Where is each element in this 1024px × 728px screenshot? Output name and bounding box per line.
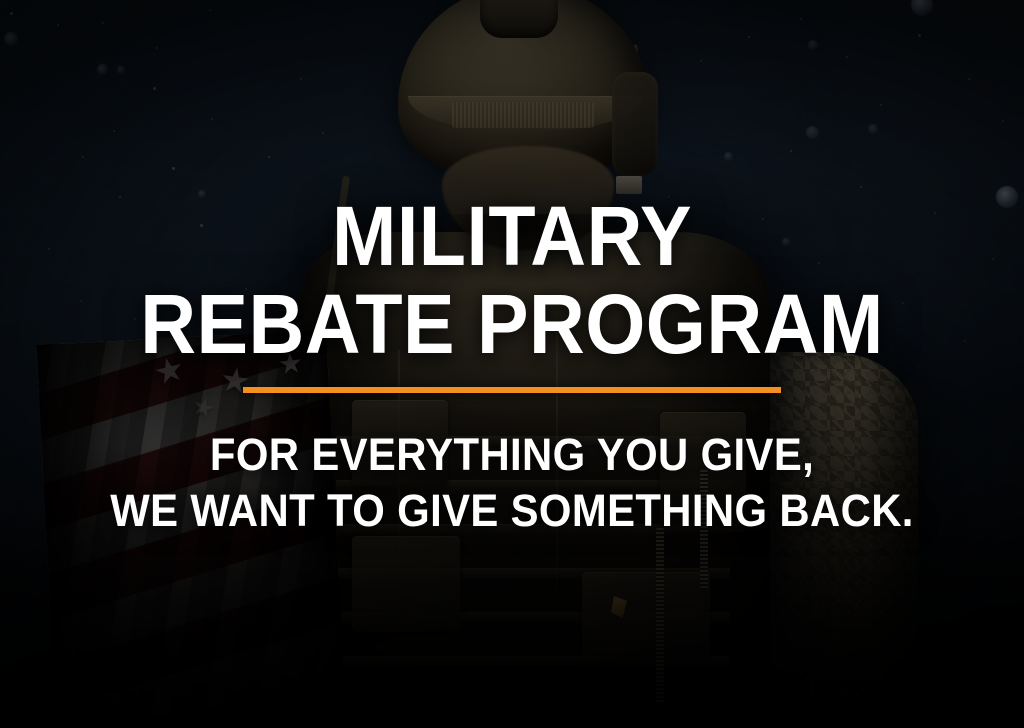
- military-rebate-hero-banner: ★ ★ ★ ★ MILITARY REBATE PROGRAM FOR EVER…: [0, 0, 1024, 728]
- subheadline-line-2: WE WANT TO GIVE SOMETHING BACK.: [36, 488, 988, 533]
- banner-content: MILITARY REBATE PROGRAM FOR EVERYTHING Y…: [0, 0, 1024, 728]
- subheadline-line-1: FOR EVERYTHING YOU GIVE,: [36, 432, 988, 477]
- headline-line-2: REBATE PROGRAM: [41, 286, 983, 363]
- orange-divider-rule: [243, 387, 781, 393]
- headline-line-1: MILITARY: [41, 198, 983, 275]
